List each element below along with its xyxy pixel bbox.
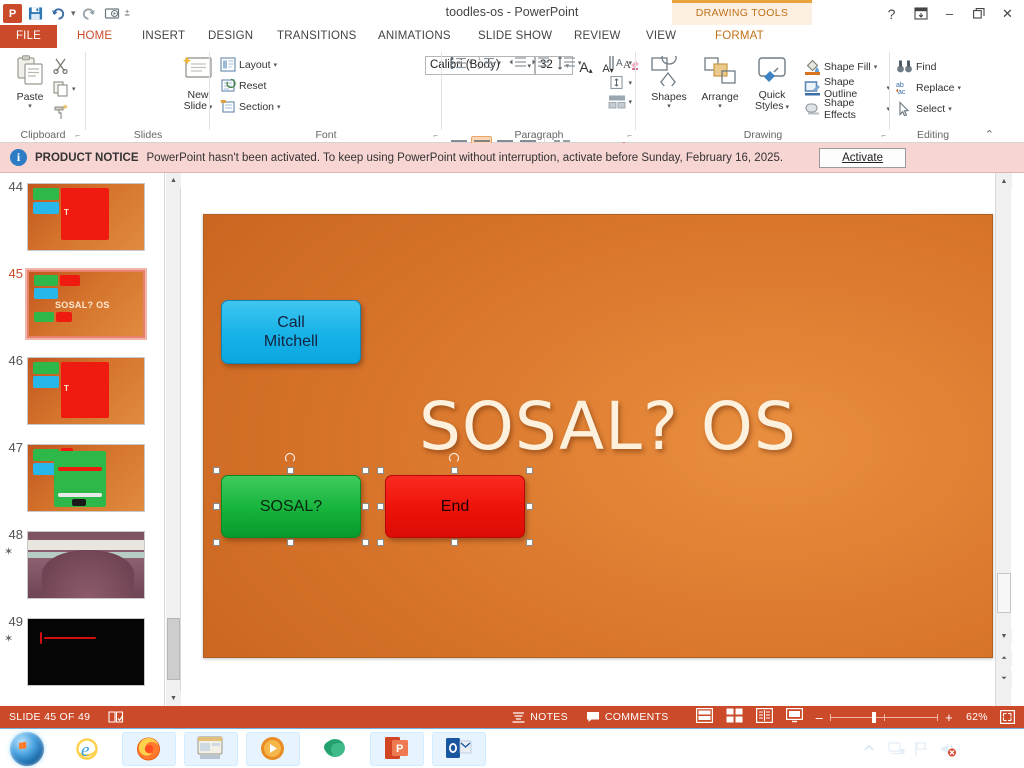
font-group-label: Font [210,129,442,141]
resize-handle-w[interactable] [213,503,220,510]
firefox-icon [135,735,163,763]
zoom-level[interactable]: 62% [957,706,991,728]
select-cursor-icon [896,101,913,116]
arrange-caret-icon[interactable]: ▾ [718,103,722,111]
resize-handle-sw[interactable] [213,539,220,546]
next-slide-icon[interactable]: ⏷ [996,671,1012,687]
slide-scroll-down-icon[interactable]: ▼ [996,628,1012,644]
format-painter-icon [52,103,69,120]
resize-handle-s[interactable] [287,539,294,546]
clipboard-dialog-launcher-icon[interactable]: ⌐ [75,131,80,140]
copy-icon [52,80,69,97]
ribbon-group-clipboard: Paste ▾ ▾ [0,48,86,143]
ribbon-group-paragraph: ▾ 123 ▾ ▾ [442,48,636,143]
shape-effects-button[interactable]: Shape Effects ▾ [804,98,890,119]
thumbnails-scrollbar[interactable]: ▲ ▼ [166,173,181,706]
info-icon: i [10,149,27,166]
svg-text:P: P [396,743,403,755]
arrange-label: Arrange [701,92,738,104]
resize-handle-n[interactable] [451,467,458,474]
shapes-label: Shapes [651,92,687,104]
shape-outline-button[interactable]: Shape Outline ▾ [804,77,890,98]
zoom-slider[interactable]: – + [812,706,957,728]
quick-styles-label-line2: Styles [755,100,784,112]
product-notice-label: PRODUCT NOTICE [35,152,139,164]
system-tray: 3:22 PM 2/11/2025 [862,729,1024,768]
notes-label: NOTES [530,711,568,723]
numbering-button[interactable]: 123 [477,56,497,70]
svg-text:A: A [616,58,623,69]
reading-view-button[interactable] [756,708,773,726]
powerpoint-icon: P [383,735,411,763]
quick-styles-button[interactable]: Quick Styles ▾ [748,56,796,113]
thumbnails-scroll-down-icon[interactable]: ▼ [166,691,181,706]
resize-handle-se[interactable] [362,539,369,546]
align-text-caret-icon[interactable]: ▾ [628,79,632,87]
ribbon-group-font: Calibri (Body) ▾ 32 ▾ A▴ A▾ A [210,48,442,143]
arrange-button[interactable]: Arrange ▾ [696,56,744,111]
tab-design[interactable]: DESIGN [199,25,262,48]
tab-format[interactable]: FORMAT [706,25,773,48]
tab-home[interactable]: HOME [68,25,121,48]
resize-handle-e[interactable] [362,503,369,510]
ribbon-display-options-icon[interactable] [906,1,935,26]
svg-text:ab: ab [896,82,904,89]
quick-styles-icon [754,56,790,88]
start-button[interactable] [2,730,52,768]
product-notice-bar: i PRODUCT NOTICE PowerPoint hasn't been … [0,143,1024,173]
thumbnail-frame: T [27,357,145,425]
find-button[interactable]: Find [896,56,961,77]
slide-thumbnails-pane[interactable]: 44 T 45 SOSAL? OS [0,173,165,706]
start-orb-icon [10,732,44,766]
shape-outline-icon [804,80,821,96]
align-text-button[interactable]: ▾ [608,74,632,91]
replace-label: Replace [916,82,955,94]
resize-handle-n[interactable] [287,467,294,474]
product-notice-message: PowerPoint hasn't been activated. To kee… [147,152,784,164]
slideshow-view-button[interactable] [786,708,803,726]
slide-area-scrollbar[interactable]: ▲ ▼ ⏶ ⏷ [995,173,1011,706]
clock-date: 2/11/2025 [968,749,1016,764]
shapes-icon [649,56,689,90]
activate-button-label: Activate [842,152,883,164]
shape-fill-button[interactable]: Shape Fill ▾ [804,56,890,77]
shape-fill-label: Shape Fill [824,61,871,73]
rotation-handle-sosal[interactable] [285,453,295,463]
select-caret-icon[interactable]: ▾ [948,105,952,113]
tab-file[interactable]: FILE [0,25,57,48]
drawing-dialog-launcher-icon[interactable]: ⌐ [881,131,886,140]
taskbar-windows-media-player[interactable] [246,732,300,766]
ribbon-group-slides: New Slide ▾ Layout ▾ Reset [86,48,210,143]
selection-box-end [381,471,529,542]
powerpoint-window: P ▾ ⩲ toodles-os - PowerPoint DRAWING TO… [0,0,1024,768]
window-title: toodles-os - PowerPoint [0,5,1024,19]
activate-button[interactable]: Activate [819,148,906,168]
convert-to-smartart-button[interactable]: ▾ [608,94,632,110]
clipboard-small-buttons: ▾ [52,54,76,123]
clock-time: 3:22 PM [968,734,1016,749]
text-direction-button[interactable]: A ▾ [608,54,632,71]
restore-icon[interactable] [964,1,993,26]
copy-button[interactable]: ▾ [52,77,76,100]
thumbnail-number-44: 44 [1,179,23,194]
tab-animations[interactable]: ANIMATIONS [369,25,460,48]
svg-text:3: 3 [478,65,481,70]
tab-transitions[interactable]: TRANSITIONS [268,25,366,48]
slide-thumbnail-47[interactable]: 47 [27,444,145,512]
thumbnail-number-45: 45 [1,266,23,281]
shape-effects-icon [804,101,821,117]
thumbnail-frame: SOSAL? OS [27,270,145,338]
slide-counter[interactable]: SLIDE 45 OF 49 [0,706,99,728]
paste-icon [15,54,45,90]
find-binoculars-icon [896,59,913,74]
shape-call-mitchell-line1: Call [277,313,305,332]
shape-fill-caret-icon[interactable]: ▾ [874,63,878,71]
animation-star-icon-48: ✶ [4,545,13,558]
resize-handle-e[interactable] [526,503,533,510]
slide-scroll-up-icon[interactable]: ▲ [996,173,1012,189]
thumbnail-number-47: 47 [1,440,23,455]
normal-view-button[interactable] [696,708,713,726]
find-label: Find [916,61,936,73]
thumbnails-scroll-up-icon[interactable]: ▲ [166,173,181,188]
tab-view[interactable]: VIEW [637,25,685,48]
replace-icon: abac [896,80,913,95]
slide-scroll-thumb[interactable] [997,573,1011,613]
numbering-caret-icon[interactable]: ▾ [498,59,502,67]
clipboard-group-label: Clipboard [0,129,86,141]
taskbar-green-app[interactable] [308,732,362,766]
zoom-knob[interactable] [872,712,876,723]
show-desktop-button[interactable] [1015,729,1024,768]
drawing-group-label: Drawing [636,129,890,141]
view-buttons [678,706,812,728]
taskbar-file-explorer[interactable] [184,732,238,766]
taskbar: e P [0,728,1024,768]
taskbar-outlook[interactable] [432,732,486,766]
decrease-indent-button[interactable] [506,56,528,70]
resize-handle-nw[interactable] [213,467,220,474]
outlook-icon [445,735,473,763]
thumbnail-number-48: 48 [1,527,23,542]
font-dialog-launcher-icon[interactable]: ⌐ [433,131,438,140]
clock[interactable]: 3:22 PM 2/11/2025 [966,734,1016,764]
editing-group-label: Editing [890,129,976,141]
text-direction-caret-icon[interactable]: ▾ [628,59,632,67]
quick-styles-caret-icon[interactable]: ▾ [784,104,789,111]
thumbnail-number-49: 49 [1,614,23,629]
comments-button[interactable]: COMMENTS [577,706,678,728]
paste-label: Paste [17,92,44,104]
format-painter-button[interactable] [52,100,76,123]
action-center-flag-icon[interactable] [914,741,931,758]
contextual-tab-group-label: DRAWING TOOLS [672,0,812,27]
paste-caret-icon[interactable]: ▾ [28,103,32,111]
slide-thumbnail-46[interactable]: 46 T [27,357,145,425]
language-proofing-icon[interactable] [99,706,133,728]
thumbnail-frame: T [27,183,145,251]
resize-handle-w[interactable] [377,503,384,510]
arrange-icon [701,56,739,90]
fit-to-window-button[interactable] [991,706,1024,728]
shape-call-mitchell[interactable]: Call Mitchell [221,300,361,364]
increase-indent-button[interactable] [529,56,551,70]
slide-title-text[interactable]: SOSAL? OS [419,388,797,465]
svg-text:ac: ac [898,89,906,95]
notes-button[interactable]: NOTES [503,706,577,728]
windows-media-player-icon [259,735,287,763]
bullets-button[interactable] [448,56,468,70]
status-bar: SLIDE 45 OF 49 NOTES COMMENTS [0,706,1024,728]
help-icon[interactable]: ? [877,1,906,26]
cut-scissors-icon [52,57,69,74]
show-hidden-icons-icon[interactable] [862,741,879,758]
tab-insert[interactable]: INSERT [133,25,194,48]
slide-thumbnail-49[interactable]: 49 ✶ [27,618,145,686]
ribbon-tab-strip: FILE HOME INSERT DESIGN TRANSITIONS ANIM… [0,25,1024,48]
replace-caret-icon[interactable]: ▾ [958,84,962,92]
ribbon-group-drawing: Shapes ▾ Arrange ▾ Quick Styles ▾ [636,48,890,143]
ribbon-group-editing: Find abac Replace ▾ Select ▾ Edit [890,48,1000,143]
slide-sorter-view-button[interactable] [726,708,743,726]
comments-label: COMMENTS [605,711,669,723]
paragraph-dialog-launcher-icon[interactable]: ⌐ [627,131,632,140]
network-icon[interactable] [888,741,905,758]
slide-canvas[interactable]: SOSAL? OS Call Mitchell SOSAL? [203,214,993,658]
taskbar-firefox[interactable] [122,732,176,766]
taskbar-powerpoint[interactable]: P [370,732,424,766]
shape-call-mitchell-line2: Mitchell [264,332,318,351]
slide-thumbnail-45[interactable]: 45 SOSAL? OS [27,270,145,338]
copy-caret-icon[interactable]: ▾ [72,85,76,93]
thumbnail-frame [27,531,145,599]
green-app-icon [321,735,349,763]
resize-handle-se[interactable] [526,539,533,546]
collapse-ribbon-icon[interactable]: ⌃ [985,128,994,141]
paragraph-group-label: Paragraph [442,129,636,141]
new-slide-label-line2: Slide [184,100,207,112]
thumbnails-scroll-thumb[interactable] [167,618,180,680]
shapes-button[interactable]: Shapes ▾ [646,56,692,111]
bullets-caret-icon[interactable]: ▾ [469,59,473,67]
paste-button[interactable]: Paste ▾ [8,54,52,111]
convert-to-smartart-caret-icon[interactable]: ▾ [628,98,632,106]
title-bar: P ▾ ⩲ toodles-os - PowerPoint DRAWING TO… [0,0,1024,27]
slide-editing-area: SOSAL? OS Call Mitchell SOSAL? [182,173,995,706]
cut-button[interactable] [52,54,76,77]
thumbnail-number-46: 46 [1,353,23,368]
shapes-caret-icon[interactable]: ▾ [667,103,671,111]
taskbar-internet-explorer[interactable]: e [60,732,114,766]
internet-explorer-icon: e [73,735,101,763]
zoom-in-button[interactable]: + [945,711,953,724]
close-icon[interactable]: ✕ [993,1,1022,26]
thumbnail-frame [27,444,145,512]
minimize-icon[interactable]: – [935,1,964,26]
volume-muted-icon[interactable] [940,741,957,758]
zoom-track[interactable] [830,717,938,718]
file-explorer-icon [197,735,225,763]
selection-box-sosal [217,471,365,542]
workspace: 44 T 45 SOSAL? OS [0,173,1024,706]
resize-handle-ne[interactable] [362,467,369,474]
tab-review[interactable]: REVIEW [565,25,630,48]
select-button[interactable]: Select ▾ [896,98,961,119]
resize-handle-nw[interactable] [377,467,384,474]
zoom-out-button[interactable]: – [816,711,824,724]
slide-thumbnail-48[interactable]: 48 ✶ [27,531,145,599]
tab-slide-show[interactable]: SLIDE SHOW [469,25,561,48]
svg-text:e: e [81,740,89,761]
select-label: Select [916,103,945,115]
animation-star-icon-49: ✶ [4,632,13,645]
ribbon: Paste ▾ ▾ [0,48,1024,143]
resize-handle-ne[interactable] [526,467,533,474]
line-spacing-button[interactable] [555,56,577,70]
replace-button[interactable]: abac Replace ▾ [896,77,961,98]
thumbnail-45-title: SOSAL? OS [55,300,110,310]
resize-handle-s[interactable] [451,539,458,546]
shape-effects-label: Shape Effects [824,97,883,121]
thumbnail-frame [27,618,145,686]
resize-handle-sw[interactable] [377,539,384,546]
slide-thumbnail-44[interactable]: 44 T [27,183,145,251]
slides-group-label: Slides [86,129,210,141]
previous-slide-icon[interactable]: ⏶ [996,651,1012,667]
rotation-handle-end[interactable] [449,453,459,463]
window-controls: ? – ✕ [877,0,1022,27]
shape-fill-icon [804,59,821,75]
line-spacing-caret-icon[interactable]: ▾ [578,59,582,67]
